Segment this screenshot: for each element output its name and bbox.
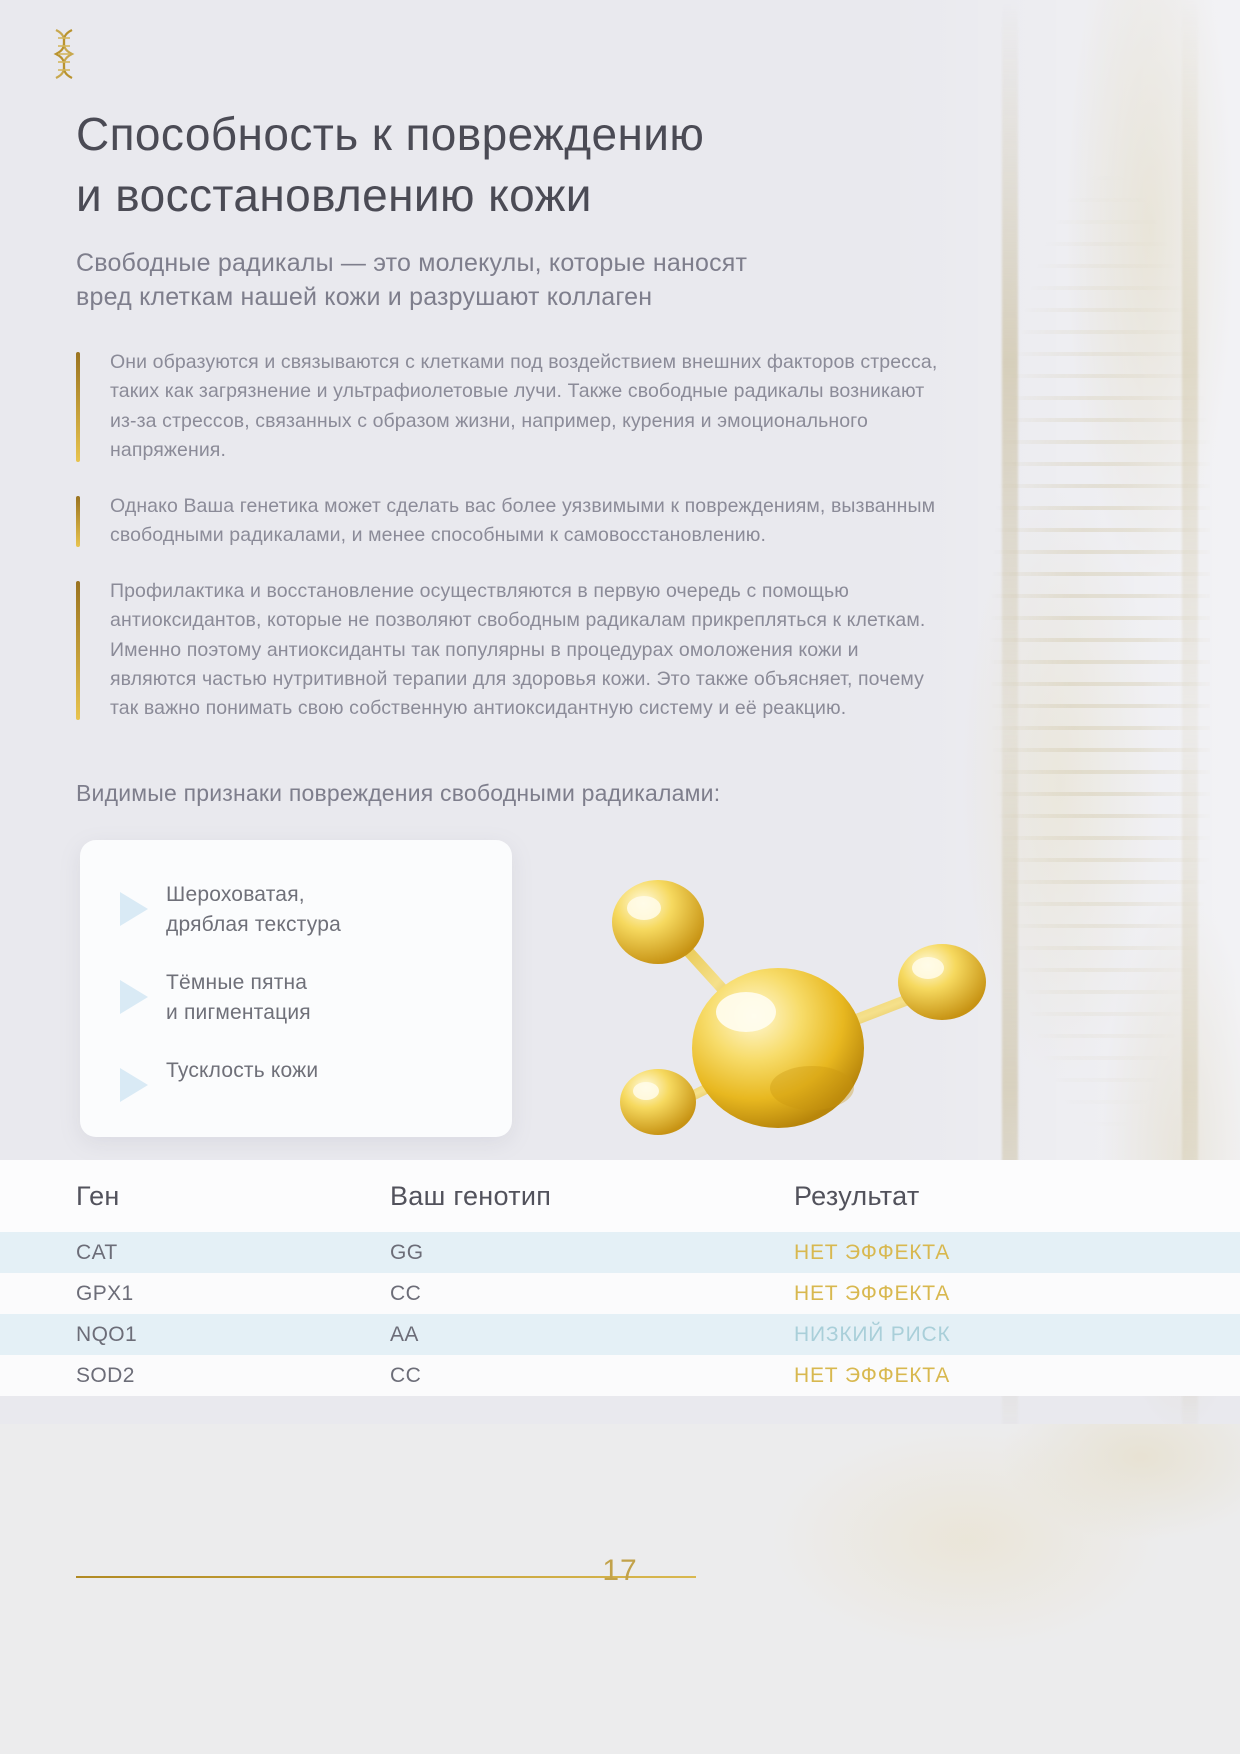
paragraph-block: Однако Ваша генетика может сделать вас б… — [76, 492, 946, 551]
paragraph-text: Они образуются и связываются с клетками … — [110, 348, 946, 466]
paragraph-block: Профилактика и восстановление осуществля… — [76, 577, 946, 724]
column-header-genotype: Ваш генотип — [390, 1181, 794, 1212]
triangle-bullet-icon — [120, 1068, 148, 1102]
paragraph-text: Профилактика и восстановление осуществля… — [110, 577, 946, 724]
cell-gene: GPX1 — [76, 1282, 390, 1306]
table-row: NQO1 AA НИЗКИЙ РИСК — [0, 1314, 1240, 1355]
cell-genotype: CC — [390, 1282, 794, 1306]
list-item: Тёмные пятнаи пигментация — [120, 968, 311, 1028]
column-header-gene: Ген — [76, 1181, 390, 1212]
table-row: CAT GG НЕТ ЭФФЕКТА — [0, 1232, 1240, 1273]
cell-gene: SOD2 — [76, 1364, 390, 1388]
footer-background-wash — [0, 1424, 1240, 1754]
page-title-line-2: и восстановлению кожи — [76, 165, 976, 226]
cell-gene: CAT — [76, 1241, 390, 1265]
column-header-result: Результат — [794, 1181, 1240, 1212]
triangle-bullet-icon — [120, 892, 148, 926]
cell-result: НЕТ ЭФФЕКТА — [794, 1282, 1240, 1306]
sign-label: Тёмные пятнаи пигментация — [166, 968, 311, 1028]
paragraph-list: Они образуются и связываются с клетками … — [76, 348, 946, 724]
page-lede-line-2: вред клеткам нашей кожи и разрушают колл… — [76, 281, 956, 315]
cell-genotype: GG — [390, 1241, 794, 1265]
list-item: Тусклость кожи — [120, 1056, 318, 1102]
sign-label: Тусклость кожи — [166, 1056, 318, 1086]
dna-helix-icon — [42, 26, 86, 82]
gold-rule — [76, 496, 80, 547]
page-number: 17 — [0, 1554, 1240, 1588]
paragraph-block: Они образуются и связываются с клетками … — [76, 348, 946, 466]
cell-result: НИЗКИЙ РИСК — [794, 1323, 1240, 1347]
triangle-bullet-icon — [120, 980, 148, 1014]
genotype-table: Ген Ваш генотип Результат CAT GG НЕТ ЭФФ… — [0, 1160, 1240, 1396]
sign-label: Шероховатая,дряблая текстура — [166, 880, 341, 940]
table-row: SOD2 CC НЕТ ЭФФЕКТА — [0, 1355, 1240, 1396]
cell-genotype: CC — [390, 1364, 794, 1388]
signs-card: Шероховатая,дряблая текстура Тёмные пятн… — [80, 840, 512, 1137]
page-lede-line-1: Свободные радикалы — это молекулы, котор… — [76, 247, 956, 281]
signs-section-title: Видимые признаки повреждения свободными … — [76, 780, 976, 807]
cell-result: НЕТ ЭФФЕКТА — [794, 1364, 1240, 1388]
gold-rule — [76, 352, 80, 462]
table-header-row: Ген Ваш генотип Результат — [0, 1160, 1240, 1232]
cell-result: НЕТ ЭФФЕКТА — [794, 1241, 1240, 1265]
paragraph-text: Однако Ваша генетика может сделать вас б… — [110, 492, 946, 551]
page-title-line-1: Способность к повреждению — [76, 104, 976, 165]
cell-genotype: AA — [390, 1323, 794, 1347]
gold-rule — [76, 581, 80, 720]
gold-molecule-illustration — [560, 830, 1010, 1150]
list-item: Шероховатая,дряблая текстура — [120, 880, 341, 940]
page-footer: 17 — [0, 1424, 1240, 1754]
page-title: Способность к повреждению и восстановлен… — [76, 104, 976, 226]
page-lede: Свободные радикалы — это молекулы, котор… — [76, 247, 956, 315]
table-row: GPX1 CC НЕТ ЭФФЕКТА — [0, 1273, 1240, 1314]
cell-gene: NQO1 — [76, 1323, 390, 1347]
